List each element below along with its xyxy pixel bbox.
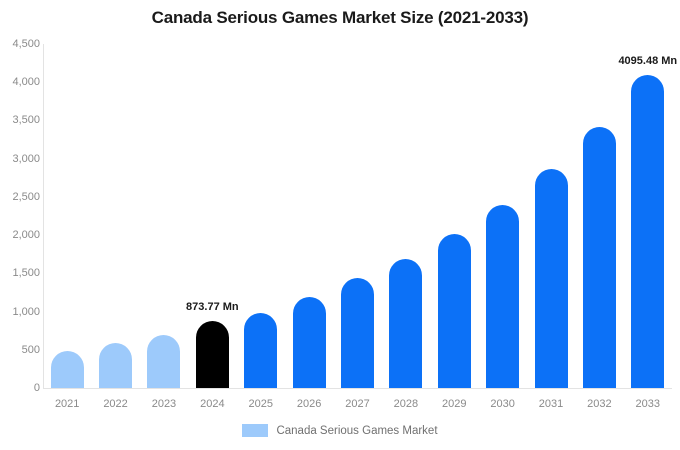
x-axis-tick-label-2027: 2027 [333,398,383,410]
x-axis-tick-label-2022: 2022 [91,398,141,410]
bar-2021[interactable] [51,351,84,388]
bar-2031[interactable] [535,169,568,388]
bar-2023[interactable] [147,335,180,389]
bar-2025[interactable] [244,313,277,388]
legend-label: Canada Serious Games Market [276,425,437,437]
bar-2032[interactable] [583,127,616,388]
y-axis-tick-label: 4,000 [4,76,40,88]
bar-2028[interactable] [389,259,422,388]
x-axis-tick-label-2030: 2030 [478,398,528,410]
bar-2033[interactable] [631,75,664,388]
bar-2024[interactable] [196,321,229,388]
y-axis-tick-label: 3,500 [4,114,40,126]
x-axis-tick-label-2025: 2025 [236,398,286,410]
x-axis-tick-label-2028: 2028 [381,398,431,410]
chart-title: Canada Serious Games Market Size (2021-2… [0,8,680,28]
y-axis-tick-label: 2,500 [4,191,40,203]
legend-item-canada-serious-games-market[interactable]: Canada Serious Games Market [242,424,437,437]
chart-legend: Canada Serious Games Market [0,424,680,437]
x-axis-tick-label-2026: 2026 [284,398,334,410]
y-axis-tick-label: 3,000 [4,153,40,165]
y-axis-tick-label: 1,500 [4,267,40,279]
x-axis-tick-label-2032: 2032 [574,398,624,410]
x-axis-tick-label-2024: 2024 [187,398,237,410]
plot-area [43,44,672,388]
bar-2029[interactable] [438,234,471,388]
x-axis-tick-label-2021: 2021 [42,398,92,410]
x-axis-tick-label-2023: 2023 [139,398,189,410]
data-label-2033: 4095.48 Mn [588,55,680,67]
y-axis-tick-label: 1,000 [4,306,40,318]
y-axis-tick-label: 500 [4,344,40,356]
bar-2027[interactable] [341,278,374,388]
y-axis-tick-label: 2,000 [4,229,40,241]
legend-swatch-icon [242,424,268,437]
y-axis-tick-label: 0 [4,382,40,394]
y-axis: 05001,0001,5002,0002,5003,0003,5004,0004… [0,0,40,450]
y-axis-tick-label: 4,500 [4,38,40,50]
data-label-2024: 873.77 Mn [152,301,272,313]
bar-2022[interactable] [99,343,132,388]
bar-2026[interactable] [293,297,326,388]
bar-2030[interactable] [486,205,519,388]
x-axis-tick-label-2033: 2033 [623,398,673,410]
x-axis-tick-label-2031: 2031 [526,398,576,410]
x-axis-line [43,388,672,389]
x-axis-tick-label-2029: 2029 [429,398,479,410]
bar-chart: Canada Serious Games Market Size (2021-2… [0,0,680,450]
